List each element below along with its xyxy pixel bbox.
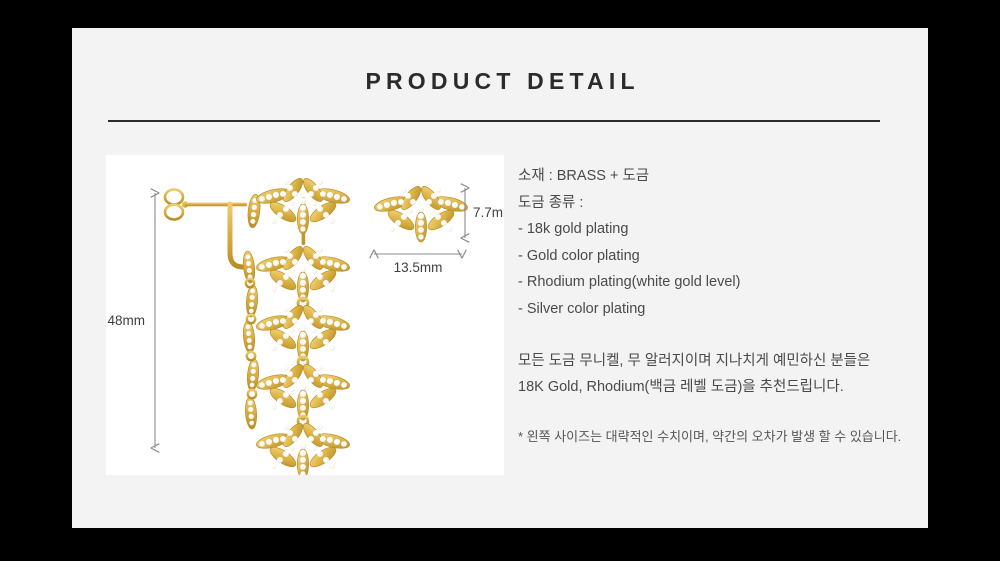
spec-plating-heading: 도금 종류 : bbox=[518, 190, 918, 217]
spec-note-block: 모든 도금 무니켈, 무 알러지이며 지나치게 예민하신 분들은 18K Gol… bbox=[518, 348, 918, 400]
product-photo: 48mm 7.7mm 13.5mm bbox=[106, 155, 504, 475]
product-detail-page: PRODUCT DETAIL bbox=[0, 0, 1000, 561]
dimension-motif-height: 7.7mm bbox=[465, 188, 504, 238]
spec-plating-option-list: - 18k gold plating - Gold color plating … bbox=[518, 216, 918, 322]
dimension-label-motif-width: 13.5mm bbox=[394, 260, 443, 275]
dimension-motif-width: 13.5mm bbox=[374, 254, 462, 275]
dimension-total-length: 48mm bbox=[107, 193, 155, 448]
spec-material-line: 소재 : BRASS + 도금 bbox=[518, 163, 918, 190]
front-view-drop-earring bbox=[255, 176, 351, 475]
spec-plating-option: - Silver color plating bbox=[518, 296, 918, 323]
spec-plating-option: - Gold color plating bbox=[518, 243, 918, 270]
content-panel: PRODUCT DETAIL bbox=[72, 28, 928, 528]
page-title: PRODUCT DETAIL bbox=[72, 68, 928, 95]
product-image-card: 48mm 7.7mm 13.5mm bbox=[106, 155, 504, 475]
single-leaf-motif-stud bbox=[373, 184, 469, 242]
spec-disclaimer: * 왼쪽 사이즈는 대략적인 수치이며, 약간의 오차가 발생 할 수 있습니다… bbox=[518, 426, 918, 448]
spec-note-line: 18K Gold, Rhodium(백금 레벨 도금)을 추천드립니다. bbox=[518, 374, 918, 400]
spec-note-line: 모든 도금 무니켈, 무 알러지이며 지나치게 예민하신 분들은 bbox=[518, 348, 918, 374]
spec-text-column: 소재 : BRASS + 도금 도금 종류 : - 18k gold plati… bbox=[518, 163, 918, 448]
spec-plating-option: - 18k gold plating bbox=[518, 216, 918, 243]
dimension-label-motif-height: 7.7mm bbox=[473, 205, 504, 220]
detail-body: 48mm 7.7mm 13.5mm 소재 : BRASS + bbox=[72, 155, 928, 485]
dimension-label-total-length: 48mm bbox=[107, 313, 145, 328]
spec-plating-option: - Rhodium plating(white gold level) bbox=[518, 269, 918, 296]
side-view-drop-earring bbox=[165, 190, 261, 430]
title-divider bbox=[108, 120, 880, 122]
